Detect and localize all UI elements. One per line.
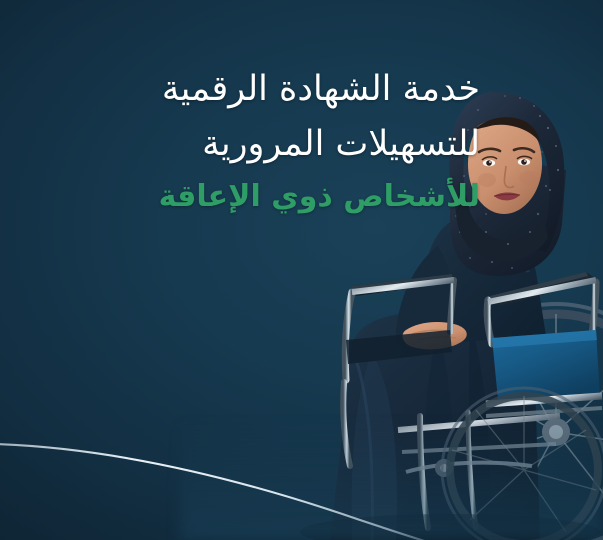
headline-line-1: خدمة الشهادة الرقمية — [108, 62, 480, 117]
headline-block: خدمة الشهادة الرقمية للتسهيلات المرورية … — [108, 62, 480, 219]
wheelchair-right-side — [486, 272, 602, 416]
headline-line-3-accent: للأشخاص ذوي الإعاقة — [108, 174, 480, 219]
headline-line-2: للتسهيلات المرورية — [108, 117, 480, 172]
promo-banner: خدمة الشهادة الرقمية للتسهيلات المرورية … — [0, 0, 603, 540]
